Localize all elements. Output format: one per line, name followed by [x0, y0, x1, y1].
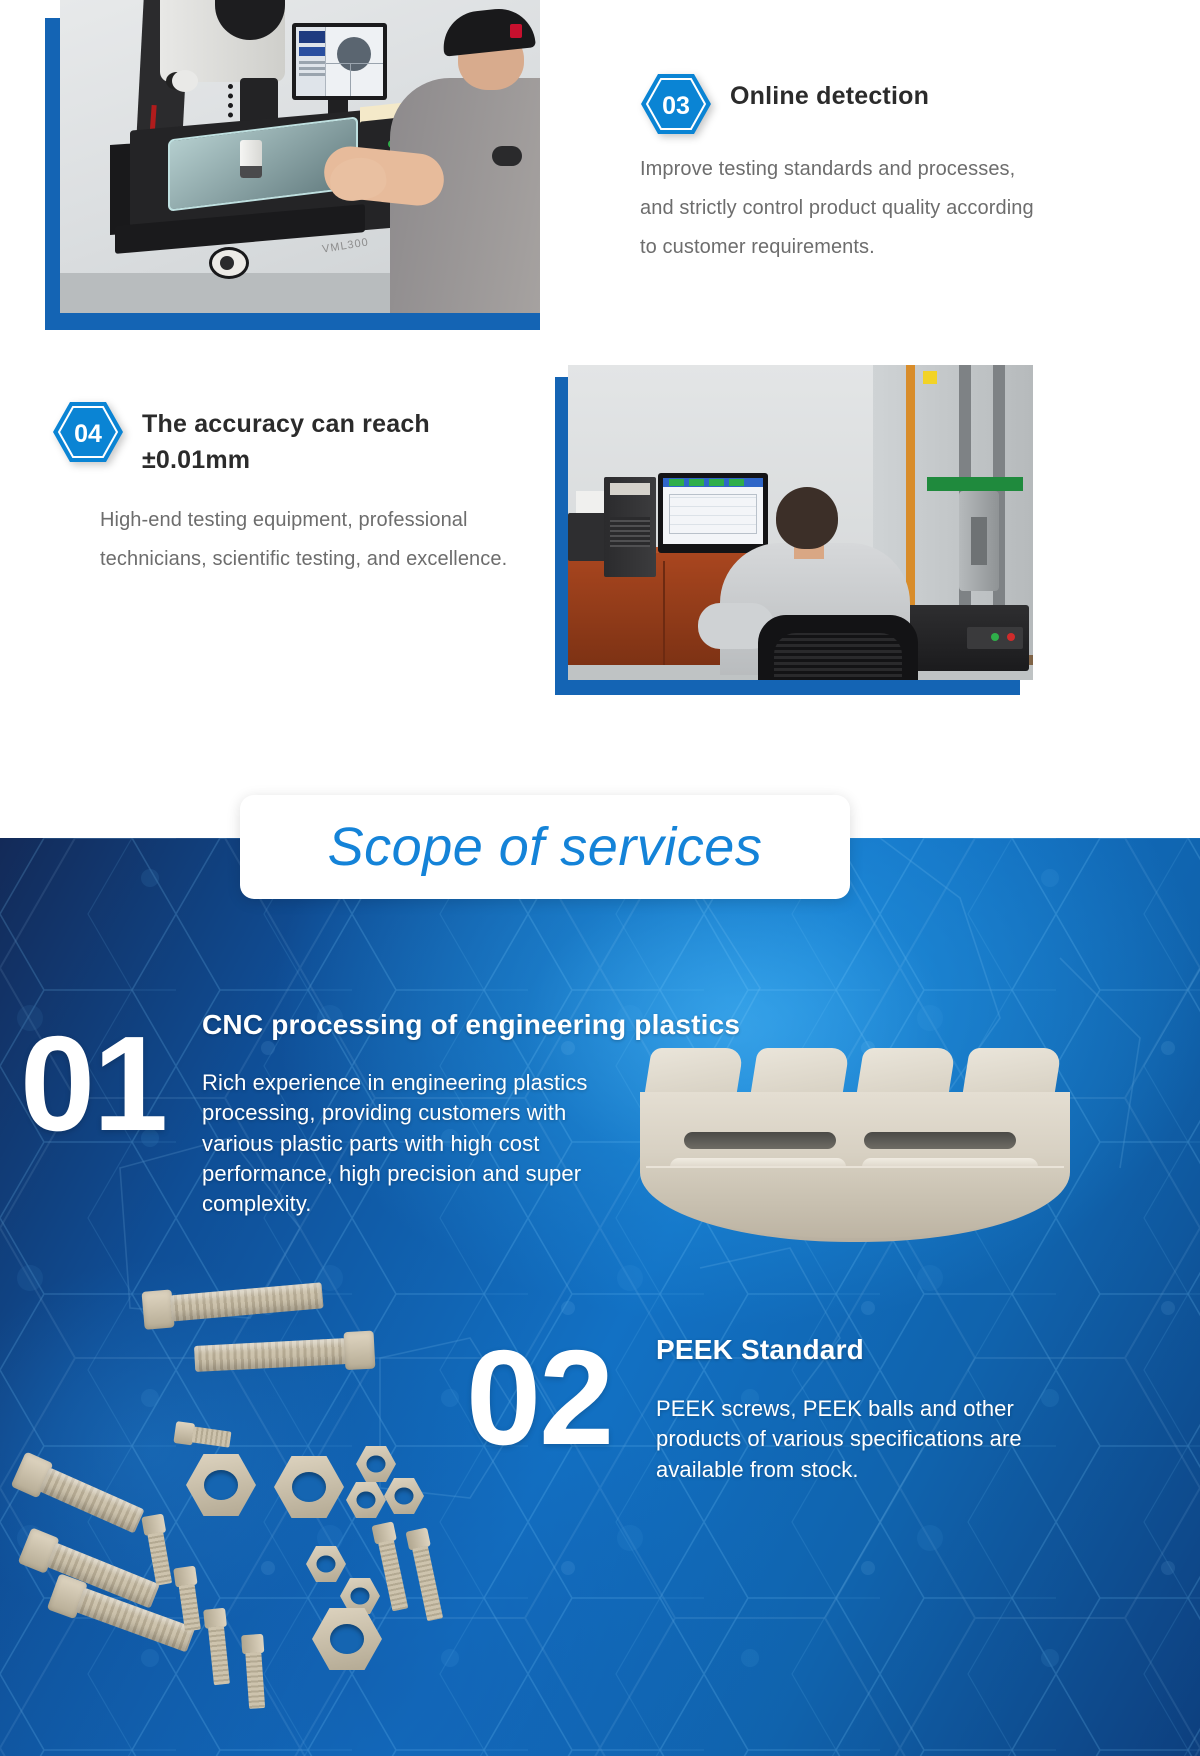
feature-card-03: 03 Online detection Improve testing stan… — [640, 72, 1040, 267]
photo2-warning-label — [923, 371, 937, 384]
peek-bolt-head — [343, 1331, 375, 1371]
peek-hex-nut — [274, 1456, 344, 1518]
feature-card-04-head: 04 The accuracy can reach ±0.01mm — [52, 400, 530, 479]
feature-card-04-body: High-end testing equipment, professional… — [100, 501, 530, 579]
photo2-pc-vents — [610, 517, 650, 547]
peek-screws-nuts-photo — [40, 1278, 480, 1756]
peek-screw-shaft — [208, 1626, 230, 1685]
feature-card-03-title: Online detection — [730, 72, 929, 114]
photo-tensile-testing-lab-frame — [540, 365, 1020, 695]
peek-screw-head — [241, 1634, 264, 1654]
service-heading-01: CNC processing of engineering plastics — [202, 1009, 962, 1041]
scope-of-services-title: Scope of services — [328, 816, 763, 878]
feature-card-04-title: The accuracy can reach ±0.01mm — [142, 400, 512, 479]
scope-of-services-banner: Scope of services — [240, 795, 850, 899]
photo2-toolbar-button — [669, 479, 684, 486]
peek-hex-nut — [312, 1608, 382, 1670]
photo2-toolbar-button — [689, 479, 704, 486]
peek-machined-part-photo — [640, 1048, 1070, 1298]
photo2-tester-grip — [959, 491, 999, 591]
photo1-screen-readout-2 — [299, 47, 325, 56]
photo2-pc-drive-bay — [610, 483, 650, 495]
peek-hex-nut-small — [384, 1478, 424, 1514]
feature-card-03-head: 03 Online detection — [640, 72, 1040, 136]
peek-bolt-shaft — [170, 1282, 324, 1321]
hexagon-badge-03-icon: 03 — [640, 72, 712, 136]
photo2-tester-red-led — [1007, 633, 1015, 641]
photo1-screen-row — [299, 67, 325, 70]
photo2-screen-data-table — [669, 494, 757, 534]
photo1-screen-measured-circle — [337, 37, 371, 71]
photo1-monitor-screen — [296, 27, 383, 96]
service-number-01: 01 — [20, 1016, 166, 1151]
peek-part-slot — [684, 1132, 836, 1149]
peek-part-slot — [864, 1132, 1016, 1149]
peek-screw-shaft — [147, 1532, 172, 1586]
feature-card-04: 04 The accuracy can reach ±0.01mm High-e… — [52, 400, 530, 579]
photo-online-detection-frame: VML300 — [20, 0, 540, 330]
photo1-specimen — [240, 140, 262, 178]
photo1-screen-divider — [326, 63, 383, 64]
peek-hex-nut — [186, 1454, 256, 1516]
service-number-02: 02 — [466, 1330, 612, 1465]
photo2-tester-green-led — [991, 633, 999, 641]
features-white-section: VML300 03 Online detection Imp — [0, 0, 1200, 838]
photo1-mouse — [492, 146, 522, 166]
photo2-screen-toolbar — [663, 478, 763, 487]
photo-tensile-testing-lab — [568, 365, 1033, 680]
peek-part-base — [646, 1166, 1064, 1238]
photo1-screen-readout — [299, 31, 325, 43]
photo1-monitor — [292, 23, 387, 100]
photo1-focus-knob — [172, 70, 198, 92]
service-body-01: Rich experience in engineering plastics … — [202, 1068, 642, 1220]
photo2-tester-green-scale — [927, 477, 1023, 491]
photo2-toolbar-button — [709, 479, 724, 486]
peek-hex-nut-small — [306, 1546, 346, 1582]
photo-online-detection: VML300 — [60, 0, 540, 313]
service-heading-02: PEEK Standard — [656, 1334, 1096, 1366]
photo2-chair-mesh-back — [774, 633, 902, 680]
peek-hex-nut-small — [356, 1446, 396, 1482]
hexagon-badge-03-number: 03 — [662, 92, 690, 120]
peek-screw-shaft — [192, 1427, 232, 1448]
photo1-screen-row — [299, 61, 325, 64]
peek-screw-shaft — [378, 1540, 408, 1612]
photo1-screen-row — [299, 73, 325, 76]
photo2-monitor — [658, 473, 768, 553]
photo1-screen-divider-v — [350, 63, 351, 96]
peek-hex-nut-small — [346, 1482, 386, 1518]
photo1-cap-logo — [510, 24, 522, 38]
photo1-adjust-roller — [212, 250, 246, 276]
photo2-monitor-screen — [663, 478, 763, 544]
photo2-technician-head — [776, 487, 838, 549]
service-body-02: PEEK screws, PEEK balls and other produc… — [656, 1394, 1076, 1485]
feature-card-03-body: Improve testing standards and processes,… — [640, 150, 1040, 267]
hexagon-badge-04-number: 04 — [74, 420, 102, 448]
peek-bolt-shaft — [39, 1467, 145, 1533]
peek-bolt-shaft — [194, 1338, 347, 1372]
photo2-desk-seam — [663, 561, 665, 665]
peek-screw-shaft — [245, 1652, 265, 1709]
photo2-toolbar-button — [729, 479, 744, 486]
peek-screw-shaft — [412, 1546, 443, 1622]
hexagon-badge-04-icon: 04 — [52, 400, 124, 464]
